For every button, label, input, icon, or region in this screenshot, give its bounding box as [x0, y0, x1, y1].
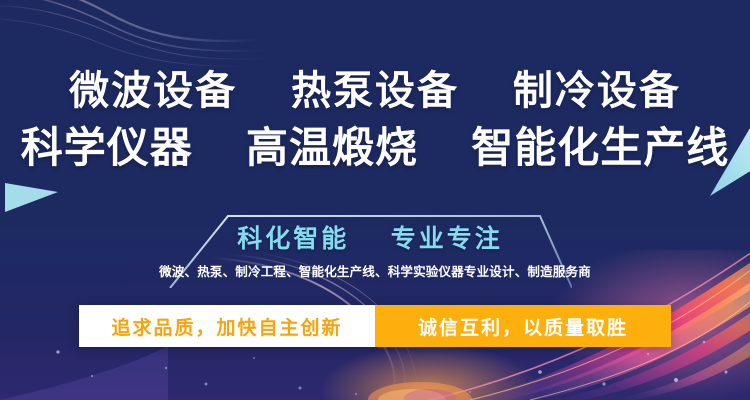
slogan-bar-group: 追求品质，加快自主创新 诚信互利，以质量取胜	[79, 305, 671, 347]
subtitle-description: 微波、热泵、制冷工程、智能化生产线、科学实验仪器专业设计、制造服务商	[100, 263, 650, 281]
headline-word-3: 制冷设备	[513, 68, 681, 114]
promo-banner: 微波设备 热泵设备 制冷设备 科学仪器 高温煅烧 智能化生产线 科化智能 专	[0, 0, 750, 400]
headline-word-5: 高温煅烧	[246, 123, 418, 172]
headline-word-1: 微波设备	[69, 68, 237, 114]
headline-word-6: 智能化生产线	[471, 123, 729, 172]
subtitle-cyan-right: 专业专注	[391, 224, 503, 253]
slogan-right-button[interactable]: 诚信互利，以质量取胜	[375, 305, 671, 347]
headline-line-1: 微波设备 热泵设备 制冷设备	[0, 62, 750, 120]
headline-word-4: 科学仪器	[21, 123, 193, 172]
headline-word-2: 热泵设备	[291, 68, 459, 114]
subtitle-cyan: 科化智能 专业专注	[168, 222, 572, 256]
slogan-left-button[interactable]: 追求品质，加快自主创新	[79, 305, 375, 347]
headline-block: 微波设备 热泵设备 制冷设备 科学仪器 高温煅烧 智能化生产线	[0, 62, 750, 176]
headline-line-2: 科学仪器 高温煅烧 智能化生产线	[0, 120, 750, 176]
triangle-left-icon	[5, 183, 58, 212]
subtitle-cyan-left: 科化智能	[237, 224, 349, 253]
